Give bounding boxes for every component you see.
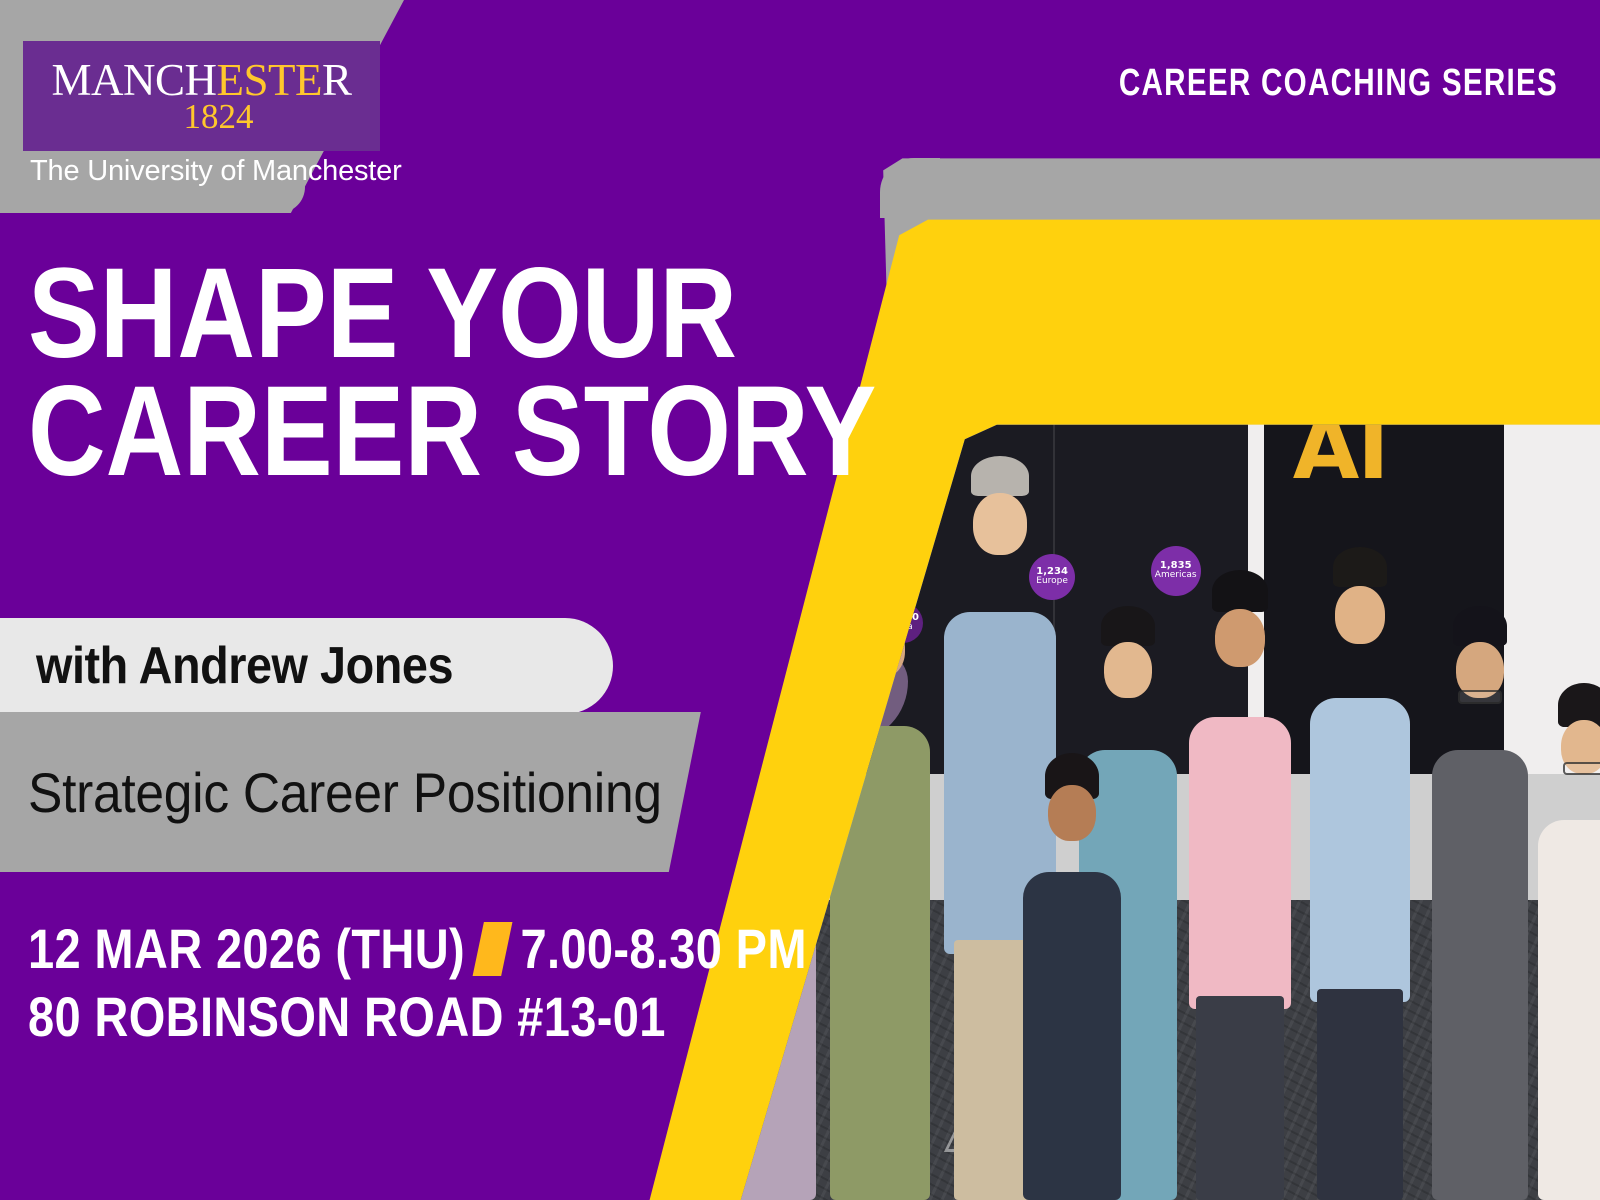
ceiling-light xyxy=(750,98,978,128)
series-eyebrow: CAREER COACHING SERIES xyxy=(1119,62,1558,105)
page-title: SHAPE YOUR CAREER STORY xyxy=(28,255,876,491)
person xyxy=(1520,672,1600,1200)
ceiling-light xyxy=(414,121,642,151)
speaker-name: with Andrew Jones xyxy=(36,636,453,696)
university-logo: MANCHESTER 1824 xyxy=(23,41,380,151)
event-time: 7.00-8.30 PM xyxy=(520,915,806,983)
event-date: 12 MAR 2026 (THU) xyxy=(28,915,465,983)
stat-bubble: 325,283 UK xyxy=(689,537,745,593)
stat-value: 325,283 xyxy=(694,555,740,566)
event-datetime-row: 12 MAR 2026 (THU) 7.00-8.30 PM xyxy=(28,915,807,983)
slash-separator-icon xyxy=(473,922,513,976)
logo-wordmark-part3: R xyxy=(322,55,352,105)
person xyxy=(1000,744,1144,1200)
speaker-pill: with Andrew Jones xyxy=(0,618,613,714)
stat-label: UK xyxy=(710,566,723,576)
session-subtitle: Strategic Career Positioning xyxy=(28,760,662,825)
event-details: 12 MAR 2026 (THU) 7.00-8.30 PM 80 ROBINS… xyxy=(28,915,807,1052)
page-title-line2: CAREER STORY xyxy=(28,373,876,491)
logo-year: 1824 xyxy=(184,99,254,134)
logo-subtitle: The University of Manchester xyxy=(30,155,402,188)
event-poster: Take Manchester with you 325,283 UK 1,23… xyxy=(0,0,1600,1200)
event-venue: 80 ROBINSON ROAD #13-01 xyxy=(28,983,807,1051)
gray-band-corner xyxy=(880,158,940,218)
